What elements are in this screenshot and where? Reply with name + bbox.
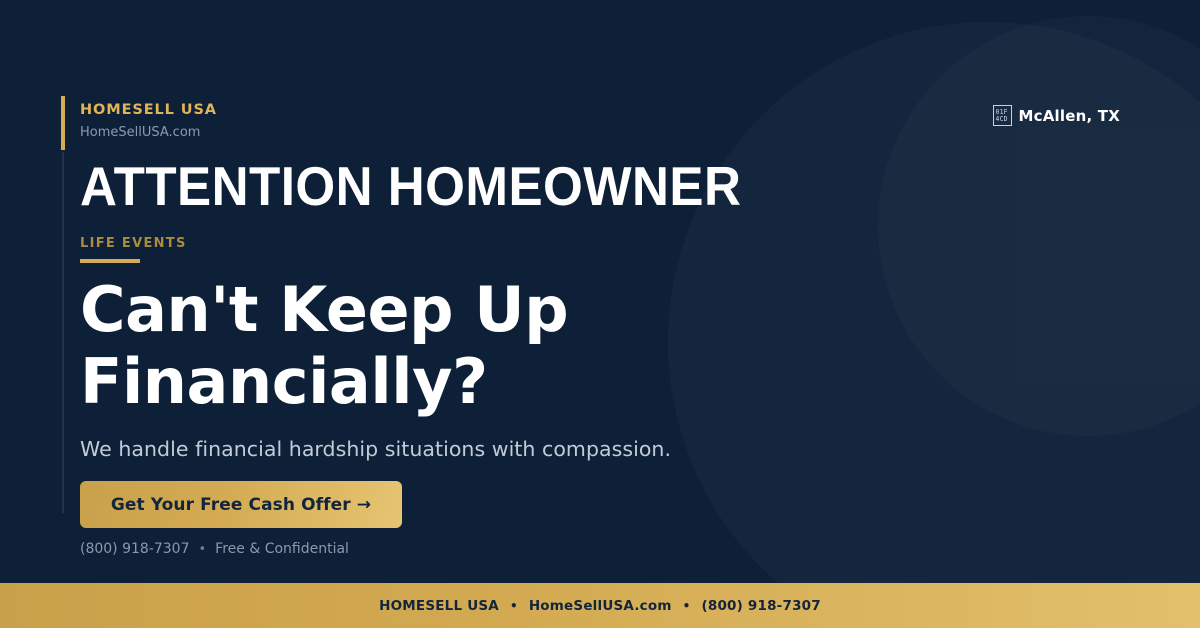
footer-phone[interactable]: (800) 918-7307 [701,598,820,614]
accent-rail-dim [62,152,64,513]
map-pin-icon-codepoint-bottom: 4CD [996,116,1008,123]
accent-rail-gold [61,96,65,150]
footer-bar: HOMESELL USA • HomeSellUSA.com • (800) 9… [0,583,1200,628]
content-area: HOMESELL USA HomeSellUSA.com 01F 4CD McA… [80,0,1120,628]
eyebrow-label: LIFE EVENTS [80,237,187,250]
brand-name: HOMESELL USA [80,103,1120,118]
footer-website[interactable]: HomeSellUSA.com [529,598,672,614]
contact-line: (800) 918-7307 • Free & Confidential [80,542,349,556]
location-badge: 01F 4CD McAllen, TX [993,105,1120,126]
footer-brand: HOMESELL USA [379,598,499,614]
footer-separator-one-icon: • [510,599,518,613]
subheadline: We handle financial hardship situations … [80,436,671,463]
main-headline: Can't Keep Up Financially? [80,274,700,418]
contact-phone[interactable]: (800) 918-7307 [80,542,190,556]
map-pin-icon: 01F 4CD [993,105,1012,126]
get-free-cash-offer-button[interactable]: Get Your Free Cash Offer → [80,481,402,528]
contact-note: Free & Confidential [215,542,349,556]
eyebrow-underline [80,259,140,263]
contact-separator-icon: • [199,543,207,556]
brand-header: HOMESELL USA HomeSellUSA.com 01F 4CD McA… [80,103,1120,149]
promotional-banner: HOMESELL USA HomeSellUSA.com 01F 4CD McA… [0,0,1200,628]
brand-website: HomeSellUSA.com [80,126,1120,139]
footer-content: HOMESELL USA • HomeSellUSA.com • (800) 9… [379,598,821,614]
location-label: McAllen, TX [1019,107,1120,125]
footer-separator-two-icon: • [683,599,691,613]
attention-headline: ATTENTION HOMEOWNER [80,158,741,216]
